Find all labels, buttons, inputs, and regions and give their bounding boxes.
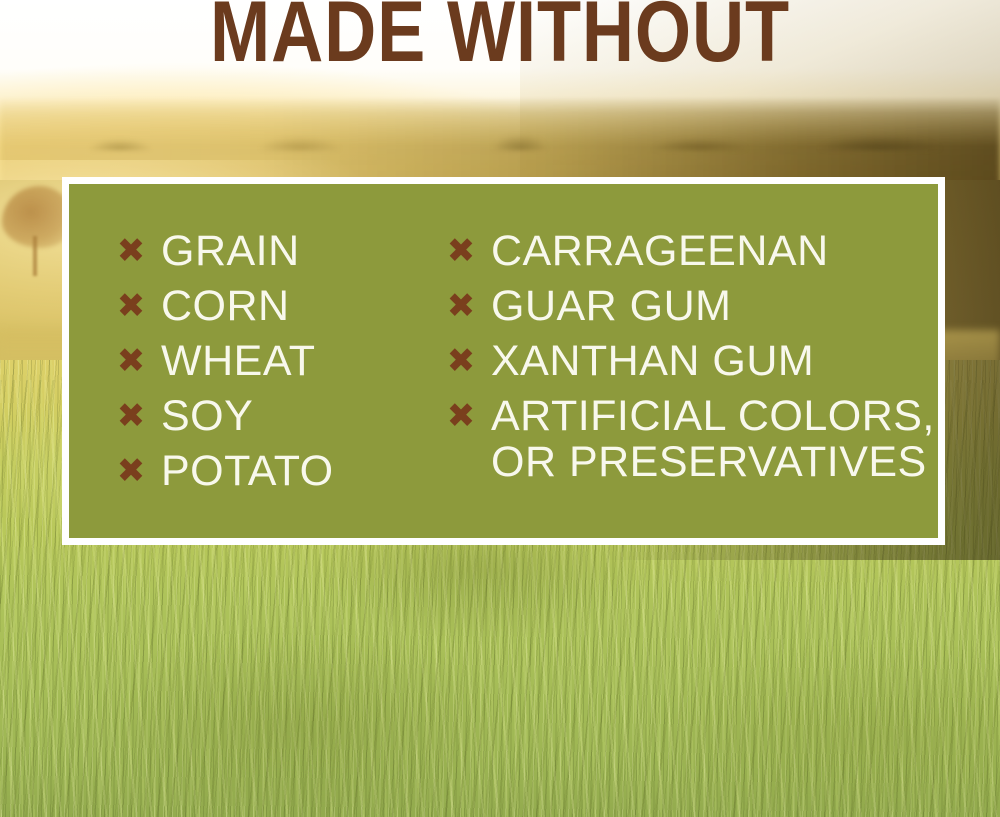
excluded-ingredients-left-column: ✖ GRAIN ✖ CORN ✖ WHEAT ✖ SOY ✖ POT <box>69 228 433 538</box>
ingredient-label: CORN <box>161 283 290 329</box>
list-item: ✖ SOY <box>111 393 433 439</box>
ingredient-label: CARRAGEENAN <box>491 228 829 274</box>
x-mark-icon: ✖ <box>111 338 151 384</box>
list-item: ✖ POTATO <box>111 448 433 494</box>
list-item: ✖ CARRAGEENAN <box>441 228 938 274</box>
page-title: MADE WITHOUT <box>80 0 920 79</box>
list-item: ✖ GRAIN <box>111 228 433 274</box>
ingredient-label: GRAIN <box>161 228 300 274</box>
made-without-panel: ✖ GRAIN ✖ CORN ✖ WHEAT ✖ SOY ✖ POT <box>62 177 945 545</box>
x-mark-icon: ✖ <box>111 448 151 494</box>
ingredient-label: XANTHAN GUM <box>491 338 814 384</box>
list-item: ✖ WHEAT <box>111 338 433 384</box>
promo-graphic: MADE WITHOUT ✖ GRAIN ✖ CORN ✖ WHEAT ✖ <box>0 0 1000 817</box>
treeline-canopy-bumps <box>0 104 1000 150</box>
excluded-ingredients-right-column: ✖ CARRAGEENAN ✖ GUAR GUM ✖ XANTHAN GUM ✖… <box>433 228 938 538</box>
ingredient-label: GUAR GUM <box>491 283 732 329</box>
ingredient-label: ARTIFICIAL COLORS, OR PRESERVATIVES <box>491 393 935 485</box>
x-mark-icon: ✖ <box>441 283 481 329</box>
ingredient-label: SOY <box>161 393 253 439</box>
x-mark-icon: ✖ <box>111 228 151 274</box>
x-mark-icon: ✖ <box>441 228 481 274</box>
ingredient-label: WHEAT <box>161 338 316 384</box>
ingredient-label: POTATO <box>161 448 334 494</box>
list-item: ✖ ARTIFICIAL COLORS, OR PRESERVATIVES <box>441 393 938 485</box>
list-item: ✖ XANTHAN GUM <box>441 338 938 384</box>
x-mark-icon: ✖ <box>441 393 481 439</box>
list-item: ✖ CORN <box>111 283 433 329</box>
x-mark-icon: ✖ <box>111 283 151 329</box>
x-mark-icon: ✖ <box>441 338 481 384</box>
lone-tree-trunk <box>33 236 37 276</box>
list-item: ✖ GUAR GUM <box>441 283 938 329</box>
x-mark-icon: ✖ <box>111 393 151 439</box>
